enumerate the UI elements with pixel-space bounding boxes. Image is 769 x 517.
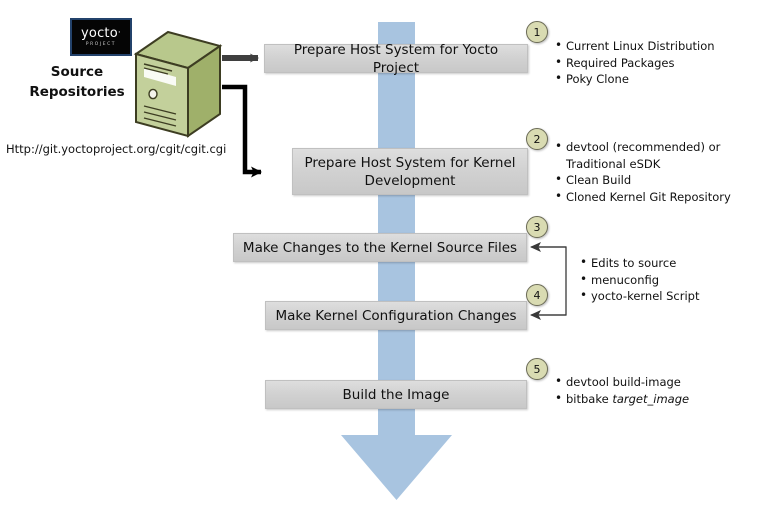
logo-subtitle: PROJECT <box>86 41 116 48</box>
note-item: menuconfig <box>591 272 700 289</box>
note-item: Edits to source <box>591 255 700 272</box>
note-item: Current Linux Distribution <box>566 38 715 55</box>
note-step-5: devtool build-image bitbake target_image <box>553 374 689 407</box>
note-item: Clean Build <box>566 172 728 189</box>
step-badge-2: 2 <box>526 128 548 150</box>
step-badge-3: 3 <box>526 216 548 238</box>
source-repositories-line1: Source <box>18 62 136 82</box>
step-badge-5: 5 <box>526 358 548 380</box>
server-icon <box>132 28 224 140</box>
process-box-step-5[interactable]: Build the Image <box>265 380 527 409</box>
process-box-step-4[interactable]: Make Kernel Configuration Changes <box>265 301 527 330</box>
source-repositories-label: Source Repositories <box>18 62 136 102</box>
process-box-step-2[interactable]: Prepare Host System for Kernel Developme… <box>292 148 528 195</box>
logo-dot: · <box>118 28 121 38</box>
step-badge-4: 4 <box>526 284 548 306</box>
note-item: bitbake target_image <box>566 391 689 408</box>
note-item: devtool (recommended) or Traditional eSD… <box>566 139 728 172</box>
note-item: yocto-kernel Script <box>591 288 700 305</box>
yocto-project-logo: yocto· PROJECT <box>70 18 132 56</box>
note-steps-3-4: Edits to source menuconfig yocto-kernel … <box>578 255 700 305</box>
note-item: devtool build-image <box>566 374 689 391</box>
diagram-canvas: yocto· PROJECT Source Repositories Http:… <box>0 0 769 517</box>
note-item-prefix: bitbake <box>566 392 612 406</box>
note-item: Cloned Kernel Git Repository <box>566 189 728 206</box>
step-badge-1: 1 <box>526 21 548 43</box>
process-box-step-3[interactable]: Make Changes to the Kernel Source Files <box>233 233 527 262</box>
note-item: Poky Clone <box>566 71 715 88</box>
note-step-1: Current Linux Distribution Required Pack… <box>553 38 715 88</box>
note-item: Required Packages <box>566 55 715 72</box>
source-repositories-line2: Repositories <box>18 82 136 102</box>
note-item-emphasis: target_image <box>612 392 689 406</box>
process-box-step-1[interactable]: Prepare Host System for Yocto Project <box>264 44 528 73</box>
note-step-2: devtool (recommended) or Traditional eSD… <box>553 139 728 205</box>
repository-url: Http://git.yoctoproject.org/cgit/cgit.cg… <box>6 142 226 156</box>
logo-wordmark: yocto· <box>81 27 121 40</box>
